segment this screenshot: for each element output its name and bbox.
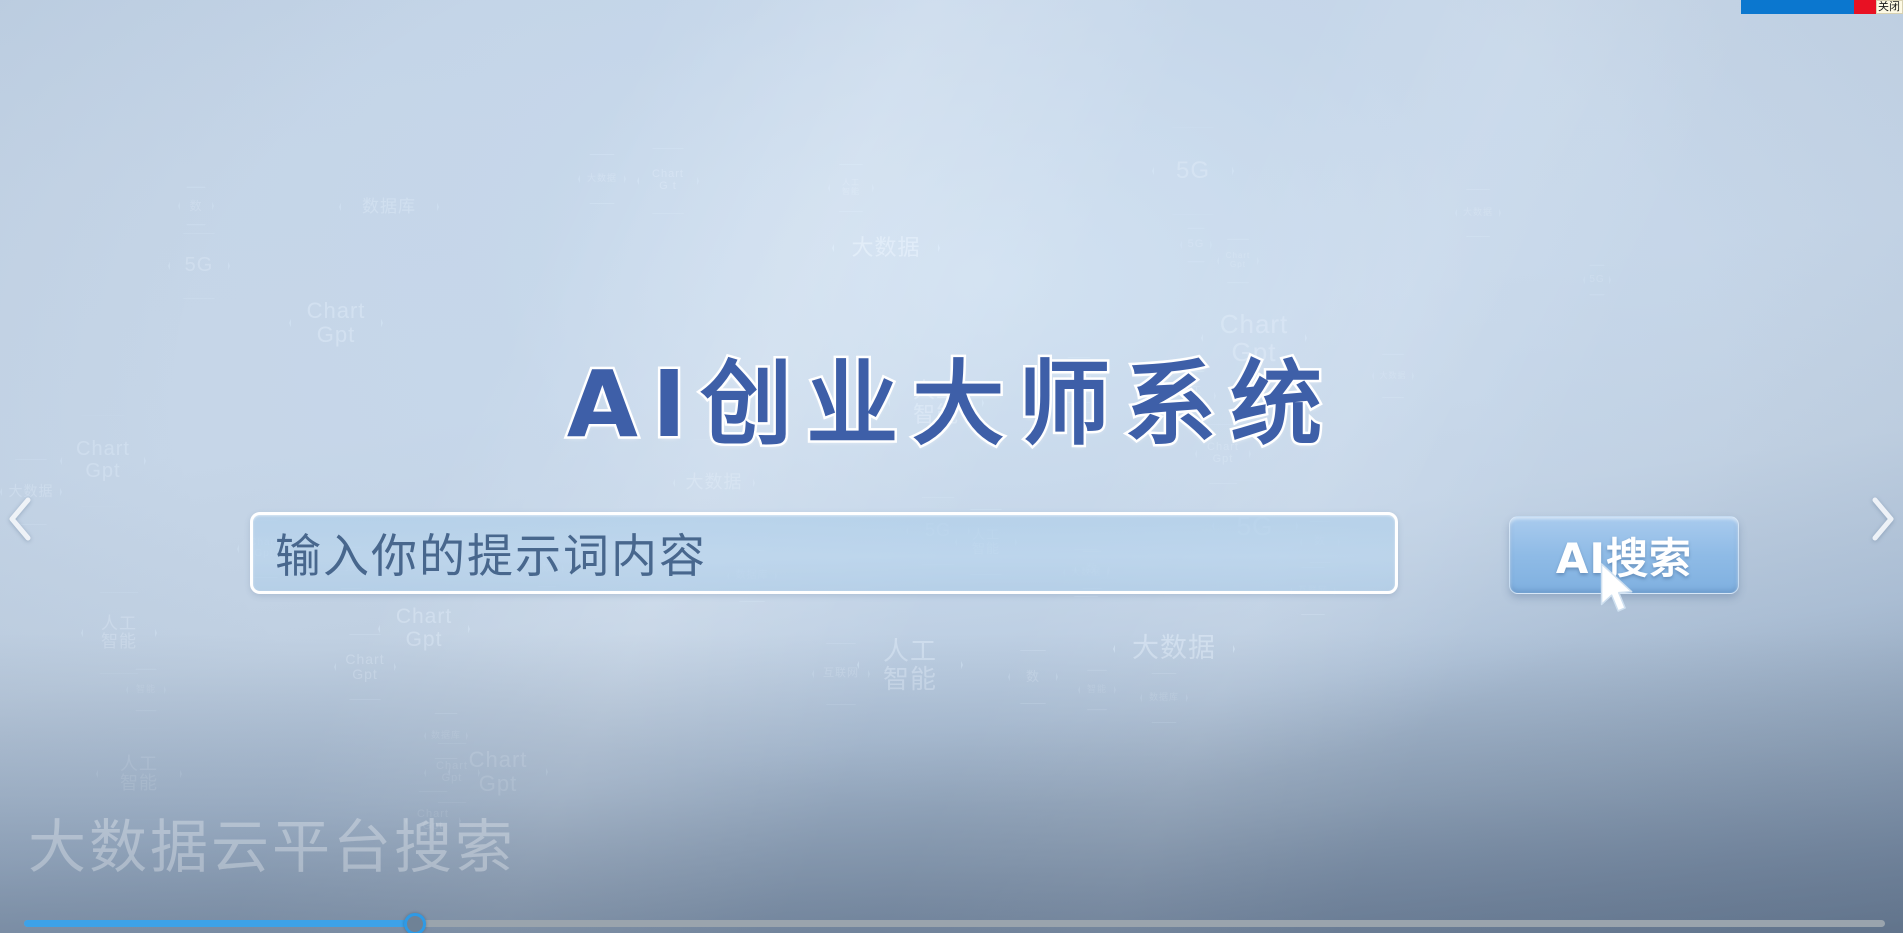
hexagon-outline	[81, 591, 157, 675]
hexagon-badge: Chart Gpt	[1195, 423, 1251, 485]
hexagon-badge: 互联网	[1057, 356, 1101, 404]
hexagon-outline	[60, 414, 146, 508]
hexagon-label: Chart Gpt	[1220, 310, 1289, 366]
hexagon-label: 互联网	[823, 668, 859, 680]
hexagon-outline	[1455, 188, 1501, 238]
ai-search-button-label: AI搜索	[1556, 525, 1692, 586]
hexagon-outline	[1152, 126, 1234, 216]
hexagon-badge: 数	[178, 186, 214, 226]
hexagon-badge: 人工 智能	[857, 608, 963, 722]
hexagon-label: 5G	[1589, 275, 1604, 286]
hexagon-label: 人工 智能	[101, 615, 137, 652]
hexagon-badge: Chart Gpt	[334, 633, 396, 701]
progress-slider-thumb[interactable]	[404, 913, 426, 933]
hexagon-outline	[1372, 353, 1414, 399]
hexagon-outline	[812, 642, 870, 706]
hexagon-label: 5G	[1176, 158, 1210, 184]
hexagon-outline	[1140, 672, 1188, 724]
hexagon-label: Chart Gpt	[1226, 252, 1251, 269]
background-vignette	[0, 0, 1903, 933]
hexagon-badge: 5G	[1583, 264, 1611, 296]
hexagon-outline	[637, 147, 699, 215]
ghost-caption-text: 大数据云平台搜索	[28, 800, 516, 884]
hexagon-label: 数据库	[362, 198, 416, 216]
slide-canvas: 数据库大数据Chart G t人工 智能大数据5G大数据5GChart Gpt5…	[0, 0, 1903, 933]
hexagon-outline	[126, 668, 166, 712]
hexagon-badge: 5G	[1152, 126, 1234, 216]
hexagon-label: 人工 智能	[1182, 386, 1202, 405]
hexagon-badge: 大数据	[832, 190, 940, 306]
hexagon-decoration-layer: 数据库大数据Chart G t人工 智能大数据5G大数据5GChart Gpt5…	[0, 0, 1903, 933]
hexagon-outline	[1180, 227, 1212, 263]
search-input[interactable]: 输入你的提示词内容	[250, 512, 1398, 594]
hexagon-badge: 人工 智能	[888, 351, 984, 455]
hexagon-badge: 人工 智能	[96, 727, 182, 821]
hexagon-label: Chart Gpt	[345, 652, 384, 682]
hexagon-badge: Chart Gpt	[1217, 238, 1259, 284]
hexagon-badge: 大数据	[1455, 188, 1501, 238]
hexagon-outline	[339, 153, 439, 261]
hexagon-badge: Chart Gpt	[1201, 281, 1307, 395]
carousel-prev-button[interactable]	[0, 489, 40, 549]
hexagon-label: Chart Gpt	[307, 299, 366, 347]
hexagon-badge: 数	[1008, 649, 1058, 705]
hexagon-outline	[1195, 423, 1251, 485]
hexagon-label: 大数据	[1463, 208, 1493, 218]
hexagon-label: 智能	[1087, 685, 1107, 695]
chevron-right-icon	[1870, 496, 1896, 542]
hexagon-outline	[1057, 356, 1101, 404]
hexagon-badge: 人工 智能	[81, 591, 157, 675]
hexagon-label: 互联网	[1066, 376, 1093, 385]
hexagon-outline	[1113, 583, 1235, 715]
hexagon-outline	[888, 351, 984, 455]
hexagon-outline	[1008, 649, 1058, 705]
hexagon-label: 大数据	[686, 473, 743, 492]
hexagon-badge: Chart Gpt	[424, 742, 480, 804]
hexagon-label: 智能	[136, 685, 156, 695]
chevron-left-icon	[7, 496, 33, 542]
hexagon-label: Chart Gpt	[76, 439, 130, 482]
hexagon-badge: 大数据	[1372, 353, 1414, 399]
hexagon-badge: Chart Gpt	[405, 790, 461, 852]
hexagon-badge: 互联网	[812, 642, 870, 706]
close-button[interactable]	[1854, 0, 1876, 14]
hexagon-label: Chart Gpt	[396, 606, 452, 651]
hexagon-outline	[857, 608, 963, 722]
progress-slider-fill	[24, 920, 415, 927]
hexagon-badge: 数据库	[1140, 672, 1188, 724]
hexagon-badge: 智能	[126, 668, 166, 712]
hexagon-label: 人工 智能	[842, 179, 860, 196]
hexagon-outline	[1583, 264, 1611, 296]
hexagon-badge: 大数据	[1113, 583, 1235, 715]
hexagon-label: 大数据	[851, 236, 920, 260]
hexagon-label: Chart G t	[652, 169, 684, 193]
hexagon-outline	[1078, 669, 1116, 711]
hexagon-outline	[96, 727, 182, 821]
hexagon-badge: Chart Gpt	[448, 718, 548, 826]
hexagon-label: 大数据	[1380, 372, 1407, 381]
hexagon-badge: 大数据	[578, 153, 626, 205]
hexagon-label: 人工 智能	[120, 755, 158, 794]
hexagon-outline	[1217, 238, 1259, 284]
hexagon-badge: 5G	[168, 232, 230, 300]
hexagon-badge: 5G	[1180, 227, 1212, 263]
search-input-placeholder: 输入你的提示词内容	[275, 520, 707, 586]
hexagon-outline	[334, 633, 396, 701]
hexagon-label: 数	[1026, 670, 1040, 684]
hexagon-outline	[405, 790, 461, 852]
hexagon-outline	[578, 153, 626, 205]
hexagon-label: Chart Gpt	[417, 809, 449, 833]
hexagon-outline	[1168, 370, 1216, 422]
hexagon-label: 5G	[185, 255, 214, 277]
hexagon-outline	[424, 742, 480, 804]
hexagon-badge: 数据库	[424, 712, 468, 760]
progress-slider[interactable]	[24, 914, 1885, 932]
hexagon-badge: 人工 智能	[828, 163, 874, 213]
hexagon-outline	[178, 186, 214, 226]
close-tooltip: 关闭	[1876, 0, 1903, 14]
background-bottom-fade	[0, 633, 1903, 933]
title-container: AI创业大师系统	[0, 330, 1903, 463]
titlebar-blue-strip	[1741, 0, 1854, 14]
hexagon-label: Chart Gpt	[469, 748, 528, 796]
hexagon-label: 人工 智能	[883, 637, 937, 693]
carousel-next-button[interactable]	[1863, 489, 1903, 549]
hexagon-label: Chart Gpt	[436, 761, 468, 785]
hexagon-outline	[448, 718, 548, 826]
hexagon-outline	[424, 712, 468, 760]
hexagon-badge: Chart G t	[637, 147, 699, 215]
hexagon-badge: Chart Gpt	[60, 414, 146, 508]
hexagon-label: 大数据	[587, 174, 617, 184]
hexagon-label: Chart Gpt	[1207, 442, 1239, 466]
ai-search-button[interactable]: AI搜索	[1509, 516, 1739, 594]
hexagon-label: 5G	[1188, 239, 1205, 251]
hexagon-label: 大数据	[1132, 634, 1216, 663]
hexagon-label: 数据库	[431, 731, 461, 741]
hexagon-label: 数	[189, 200, 202, 213]
background-sheen	[0, 0, 1903, 933]
hexagon-outline	[828, 163, 874, 213]
window-controls-overlay: 关闭	[1741, 0, 1903, 14]
page-title: AI创业大师系统	[567, 330, 1336, 463]
hexagon-badge: Chart Gpt	[289, 272, 383, 374]
hexagon-outline	[1201, 281, 1307, 395]
hexagon-label: 人工 智能	[913, 379, 959, 427]
hexagon-badge: 智能	[1078, 669, 1116, 711]
hexagon-label: 数据库	[1149, 693, 1179, 703]
hexagon-badge: 人工 智能	[1168, 370, 1216, 422]
hexagon-badge: 数据库	[339, 153, 439, 261]
hexagon-outline	[168, 232, 230, 300]
hexagon-outline	[289, 272, 383, 374]
search-row: 输入你的提示词内容 AI搜索	[0, 512, 1903, 598]
hexagon-outline	[832, 190, 940, 306]
